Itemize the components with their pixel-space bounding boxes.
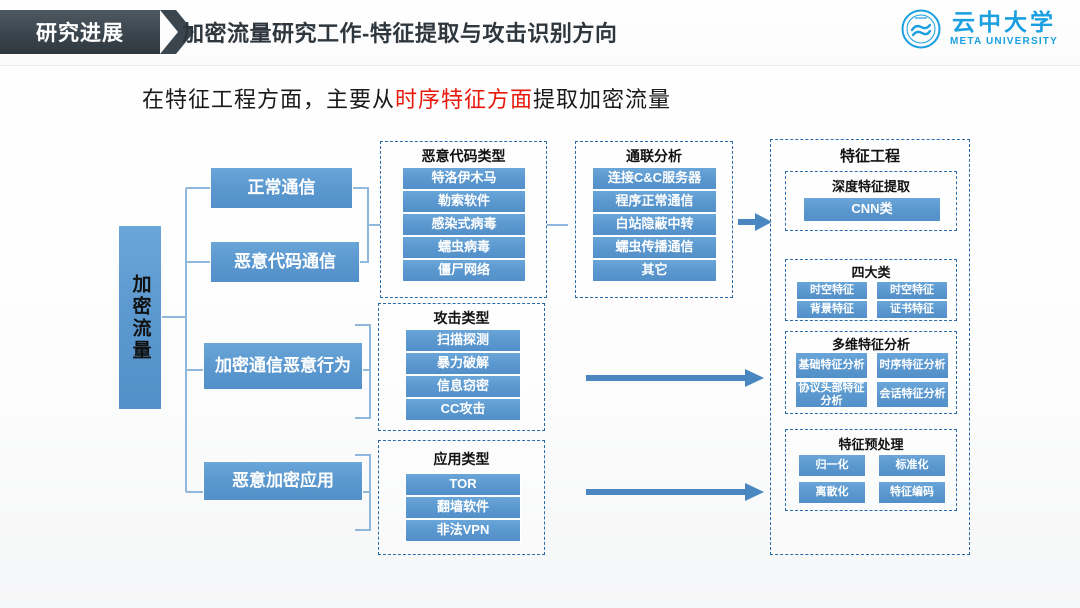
logo-english-name: META UNIVERSITY	[950, 35, 1058, 48]
subgroup-title: 特征预处理	[786, 434, 956, 453]
group-title: 恶意代码类型	[381, 146, 546, 166]
subgroup-deep-feature-extraction: 深度特征提取 CNN类	[785, 171, 957, 231]
branch-label: 正常通信	[248, 178, 316, 198]
group-communication-analysis: 通联分析 连接C&C服务器 程序正常通信 白站隐蔽中转 蠕虫传播通信 其它	[575, 141, 733, 298]
subgroup-item[interactable]: CNN类	[803, 197, 941, 222]
group-title: 攻击类型	[379, 308, 544, 328]
subgroup-item[interactable]: 标准化	[878, 454, 946, 477]
group-item[interactable]: 连接C&C服务器	[592, 167, 717, 190]
subgroup-title: 多维特征分析	[786, 334, 956, 353]
subgroup-item[interactable]: 时序特征分析	[876, 352, 949, 379]
group-item[interactable]: 蠕虫传播通信	[592, 236, 717, 259]
ribbon-label: 研究进展	[36, 17, 124, 47]
group-item[interactable]: 其它	[592, 259, 717, 282]
branch-node-malicious-encrypted-app[interactable]: 恶意加密应用	[203, 461, 363, 501]
subgroup-item[interactable]: 特征编码	[878, 481, 946, 504]
group-item[interactable]: 暴力破解	[405, 352, 521, 375]
group-item[interactable]: 非法VPN	[405, 519, 521, 542]
slide-canvas: 研究进展 加密流量研究工作-特征提取与攻击识别方向 云中大学 META UNIV…	[0, 0, 1080, 608]
subgroup-item[interactable]: 基础特征分析	[795, 352, 868, 379]
subgroup-title: 四大类	[786, 262, 956, 281]
group-title: 应用类型	[379, 449, 544, 469]
subgroup-four-categories: 四大类 时空特征 时空特征 背景特征 证书特征	[785, 259, 957, 321]
subgroup-item[interactable]: 协议头部特征分析	[795, 381, 868, 408]
group-item[interactable]: 僵尸网络	[402, 259, 526, 282]
subgroup-item[interactable]: 会话特征分析	[876, 381, 949, 408]
subtitle-line: 在特征工程方面，主要从时序特征方面提取加密流量	[142, 82, 671, 114]
branch-label: 加密通信恶意行为	[215, 356, 351, 376]
subgroup-item[interactable]: 离散化	[798, 481, 866, 504]
group-item[interactable]: 白站隐蔽中转	[592, 213, 717, 236]
group-item[interactable]: 特洛伊木马	[402, 167, 526, 190]
logo-chinese-name: 云中大学	[952, 10, 1056, 35]
subgroup-feature-preprocessing: 特征预处理 归一化 标准化 离散化 特征编码	[785, 429, 957, 511]
group-malicious-code-types: 恶意代码类型 特洛伊木马 勒索软件 感染式病毒 蠕虫病毒 僵尸网络	[380, 141, 547, 298]
header-ribbon: 研究进展	[0, 10, 160, 54]
group-item[interactable]: 翻墙软件	[405, 496, 521, 519]
group-attack-types: 攻击类型 扫描探测 暴力破解 信息窃密 CC攻击	[378, 303, 545, 431]
subgroup-item[interactable]: 时空特征	[796, 281, 868, 300]
group-item[interactable]: TOR	[405, 473, 521, 496]
group-application-types: 应用类型 TOR 翻墙软件 非法VPN	[378, 440, 545, 555]
group-item[interactable]: 感染式病毒	[402, 213, 526, 236]
root-node-encrypted-traffic[interactable]: 加密流量	[118, 225, 162, 410]
subtitle-highlight: 时序特征方面	[395, 87, 533, 112]
group-item[interactable]: CC攻击	[405, 398, 521, 421]
branch-node-encrypted-malicious-behavior[interactable]: 加密通信恶意行为	[203, 342, 363, 390]
subgroup-title: 深度特征提取	[786, 176, 956, 195]
branch-node-malicious-code-communication[interactable]: 恶意代码通信	[210, 241, 360, 283]
branch-label: 恶意加密应用	[232, 471, 334, 491]
branch-node-normal-communication[interactable]: 正常通信	[210, 167, 353, 209]
subgroup-item[interactable]: 时空特征	[876, 281, 948, 300]
panel-title: 特征工程	[771, 145, 969, 166]
subgroup-multidimensional-feature-analysis: 多维特征分析 基础特征分析 时序特征分析 协议头部特征分析 会话特征分析	[785, 331, 957, 414]
group-title: 通联分析	[576, 146, 732, 166]
group-item[interactable]: 扫描探测	[405, 329, 521, 352]
panel-feature-engineering: 特征工程 深度特征提取 CNN类 四大类 时空特征 时空特征 背景特征 证书特征…	[770, 139, 970, 555]
university-logo: 云中大学 META UNIVERSITY	[901, 9, 1058, 49]
group-item[interactable]: 勒索软件	[402, 190, 526, 213]
university-seal-icon	[901, 9, 941, 49]
subgroup-item[interactable]: 归一化	[798, 454, 866, 477]
group-item[interactable]: 程序正常通信	[592, 190, 717, 213]
page-title: 加密流量研究工作-特征提取与攻击识别方向	[182, 10, 617, 54]
subtitle-suffix: 提取加密流量	[533, 87, 671, 112]
group-item[interactable]: 信息窃密	[405, 375, 521, 398]
subtitle-prefix: 在特征工程方面，主要从	[142, 87, 395, 112]
group-item[interactable]: 蠕虫病毒	[402, 236, 526, 259]
slide-header: 研究进展 加密流量研究工作-特征提取与攻击识别方向 云中大学 META UNIV…	[0, 0, 1080, 66]
root-node-label: 加密流量	[127, 274, 154, 362]
subgroup-item[interactable]: 背景特征	[796, 300, 868, 319]
subgroup-item[interactable]: 证书特征	[876, 300, 948, 319]
branch-label: 恶意代码通信	[234, 252, 336, 272]
